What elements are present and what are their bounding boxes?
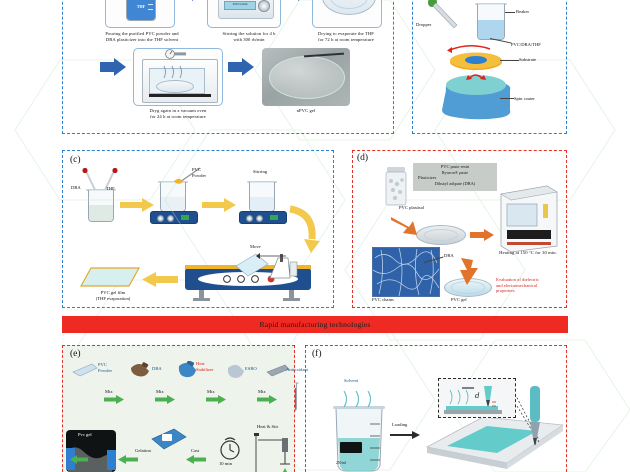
pvc-gel-annotation: PVC gel [451,297,467,303]
arrow-a4 [228,58,254,82]
ing-line2: Stabilizer [196,367,214,372]
eval-line1: Evaluation of dielectric [496,277,539,282]
beaker-volume-label: 250 ml [336,461,346,465]
pvc-powder-line2: Powder [192,173,206,178]
figure-root: THF 300 rb/min Solution Pouring the puri… [0,0,630,472]
mix-label-1: Mix [105,389,113,395]
pvc-chains-annotation: PVC chains [372,297,394,303]
spin-coater-label: Spin coater [514,96,535,102]
arrow-c3 [142,272,178,292]
solvent-label: Solvent [344,378,358,384]
panel-a-step2-caption: Stirring the solution for 4 h with 300 r… [203,31,295,43]
beaker-leader [505,12,515,13]
banner-text: Rapid manufacturing technologies [260,320,371,329]
dba-label: DBA [71,185,81,191]
panel-f-label: (f) [312,349,322,359]
oven-dish [156,80,194,93]
gel-photo-tool [304,52,345,57]
infobox-line1: PVC paste resin [441,164,469,169]
panel-c-label: (c) [70,155,81,165]
film-line2: (THF evaporation) [96,296,131,301]
infobox-line2: Ryuron® paste [442,170,468,175]
pvc-gel-photo-label: Pvc gel [78,432,92,438]
ingredient-dba-label: DBA [152,366,162,372]
timer-label: 10 min [219,461,232,467]
beaker-label: Beaker [516,9,529,15]
pvc-powder-label: PVC Powder [192,167,206,178]
cap-line: for 72 h at room temperature [318,37,374,42]
cast-label: Cast [191,448,199,454]
stirrer-display: 300 rb/min [224,1,256,10]
loading-label: Loading [392,422,407,428]
dropper-label: Dropper [416,22,431,28]
arrow-d2 [470,228,494,246]
stirrer-knob[interactable] [258,0,270,12]
move-label: Move [250,244,261,250]
cap-line: Drying to evaporate the THF [318,31,374,36]
arrow-c1 [120,198,154,217]
thf-label: THF [106,186,115,192]
panel-a-step1-cell: THF [105,0,175,28]
gelation-label: Gelation [135,448,151,454]
arrow-d3 [458,258,480,291]
solution-label: PVC/DBA/THF [511,42,541,48]
heating-label: Heating at 150 °C for 30 min. [478,250,578,256]
cap-line: with 300 rb/min [233,37,264,42]
arrow-a3 [100,58,126,82]
eval-line2: and electromechanical [496,283,537,288]
panel-a-step1-caption: Pouring the purified PVC powder and DBA … [82,31,202,43]
arrow-a2 [285,0,309,8]
pvc-gel-film-label: PVC gel film (THF evaporation) [80,290,146,301]
ing-line1: Heat [196,361,205,366]
cap-line: Pouring the purified PVC powder and [105,31,178,36]
ingredient-esbo-label: ESBO [245,366,257,372]
panel-a-step3-cell: Solution [312,0,382,28]
ingredient-heat-stabilizer-label: Heat Stabilizer [196,361,214,372]
film-line1: PVC gel film [101,290,126,295]
panel-a-step3-caption: Drying to evaporate the THF for 72 h at … [296,31,396,43]
arrow-a1 [179,0,203,8]
cap-line: Dryg again in a vacuum oven [150,108,207,113]
mix-label-3: Mix [207,389,215,395]
cap-line: DBA plasticizer into the THF solvent [106,37,178,42]
stirring-label: Stirring [253,169,267,175]
panel-a-step4-caption: Dryg again in a vacuum oven for 24 h at … [128,108,228,120]
beaker-liquid: THF [127,0,155,20]
thf-beaker: THF [126,0,156,21]
ingredient-antioxidant-label: Antioxidant [286,367,308,373]
ing-line1: PVC [98,362,107,367]
cap-line: for 24 h at room temperature [150,114,206,119]
oven-control-bar [149,94,211,97]
panel-d-infobox: PVC paste resin Ryuron® paste Plasticize… [413,163,497,191]
panel-a-step4-cell [133,48,223,106]
eval-line3: properties. [496,288,516,293]
panel-a-step2-cell: 300 rb/min [207,0,281,28]
substrate-label: Substrate [519,57,536,63]
ing-line2: Powder [98,368,112,373]
panel-d-label: (d) [357,153,368,163]
heat-stir-label: Heat & Stir [257,424,278,430]
dba-annotation: DBA [444,253,454,259]
arrow-d1 [391,215,419,242]
cap-line: nPVC gel [297,108,316,113]
evaluation-note: Evaluation of dielectric and electromech… [496,277,566,294]
rapid-manufacturing-banner: Rapid manufacturing technologies [62,316,568,333]
panel-a-step5-caption: nPVC gel [266,108,346,114]
coater-leader [500,98,514,99]
mix-label-4: Mix [258,389,266,395]
mix-label-2: Mix [156,389,164,395]
gel-dish-rim [269,56,345,99]
pvc-plastisol-label: PVC plastisol [399,205,424,211]
substrate-leader [500,60,519,61]
infobox-line4: Dibutyl adipate (DBA) [435,181,475,186]
pvc-chains-micrograph [372,247,440,297]
svg-text:d: d [475,392,480,400]
peel-off-label: Peel Off [88,448,103,454]
ingredient-pvc-powder-label: PVC Powder [98,362,112,373]
panel-e-label: (e) [70,349,81,359]
pvc-powder-line1: PVC [192,167,201,172]
solution-dish [322,0,376,15]
beaker-label: THF [127,4,155,9]
magnetic-stirrer: 300 rb/min [218,0,274,19]
npvc-gel-photograph [262,48,350,106]
dish-inner [330,0,367,9]
arrow-c2 [202,198,236,217]
cap-line: Stirring the solution for 4 h [222,31,275,36]
